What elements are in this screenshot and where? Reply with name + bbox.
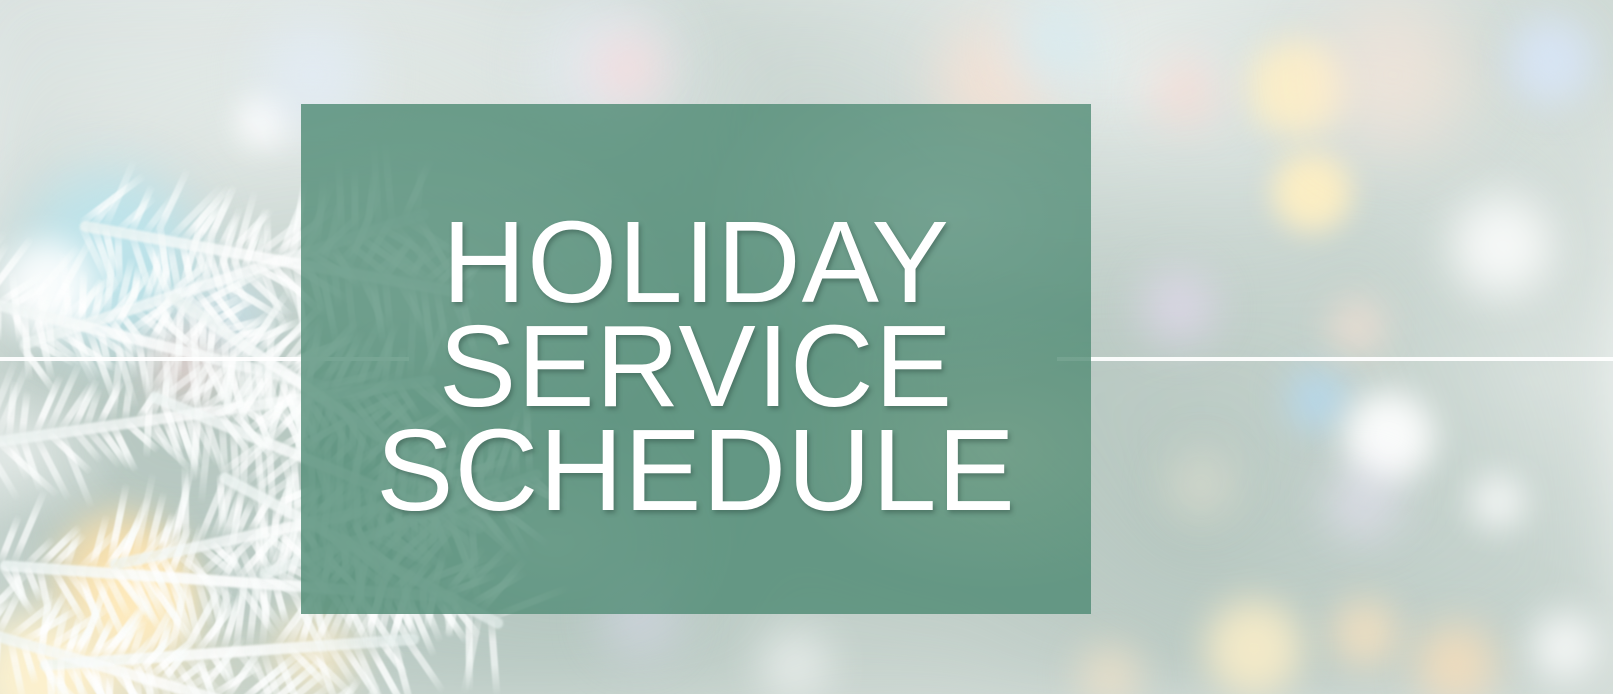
bokeh-pink-top (592, 34, 662, 104)
bokeh-white-bottom (1530, 612, 1600, 682)
bokeh-amber-bottom (1332, 600, 1398, 666)
bokeh-warm-bottom (1080, 646, 1140, 694)
bokeh-sand-mid (1168, 452, 1234, 518)
page-title: HOLIDAY SERVICE SCHEDULE (301, 210, 1091, 522)
bokeh-amber-left (56, 512, 186, 642)
bokeh-cyan-left (20, 170, 200, 350)
bokeh-gold-bottom (1206, 600, 1302, 694)
bokeh-white-right (1452, 196, 1552, 296)
bokeh-white-center (760, 630, 830, 694)
divider-line-right (1057, 357, 1613, 361)
bokeh-bright-corner (0, 618, 100, 694)
bokeh-blue-lower (1288, 370, 1348, 430)
bokeh-cream-corner (1318, 0, 1468, 150)
bokeh-spark-right (1470, 474, 1526, 530)
bokeh-peach-lower (1330, 300, 1384, 354)
bokeh-pink-left (150, 330, 220, 400)
bokeh-orange-bottom (1416, 624, 1496, 694)
bokeh-amber-left2 (90, 548, 198, 656)
bokeh-white-small (236, 96, 288, 148)
bokeh-blue-right (1508, 18, 1594, 104)
bokeh-white-glow (1344, 392, 1434, 482)
bokeh-rose-mid (1152, 60, 1218, 126)
bokeh-gold-upper (1248, 40, 1344, 136)
bokeh-warm-left (268, 610, 358, 694)
bokeh-violet-mid (1144, 272, 1214, 342)
bokeh-lilac-lower (1326, 466, 1400, 540)
headline-line-3: SCHEDULE (301, 418, 1091, 522)
bokeh-ice-left (190, 276, 268, 354)
bokeh-gold-mid (1272, 152, 1352, 232)
bokeh-highlight-left (0, 240, 96, 336)
holiday-banner: HOLIDAY SERVICE SCHEDULE (0, 0, 1613, 694)
bokeh-ice-top (1008, 0, 1098, 90)
title-panel: HOLIDAY SERVICE SCHEDULE (301, 104, 1091, 614)
headline-line-1: HOLIDAY (301, 210, 1091, 314)
headline-line-2: SERVICE (301, 314, 1091, 418)
